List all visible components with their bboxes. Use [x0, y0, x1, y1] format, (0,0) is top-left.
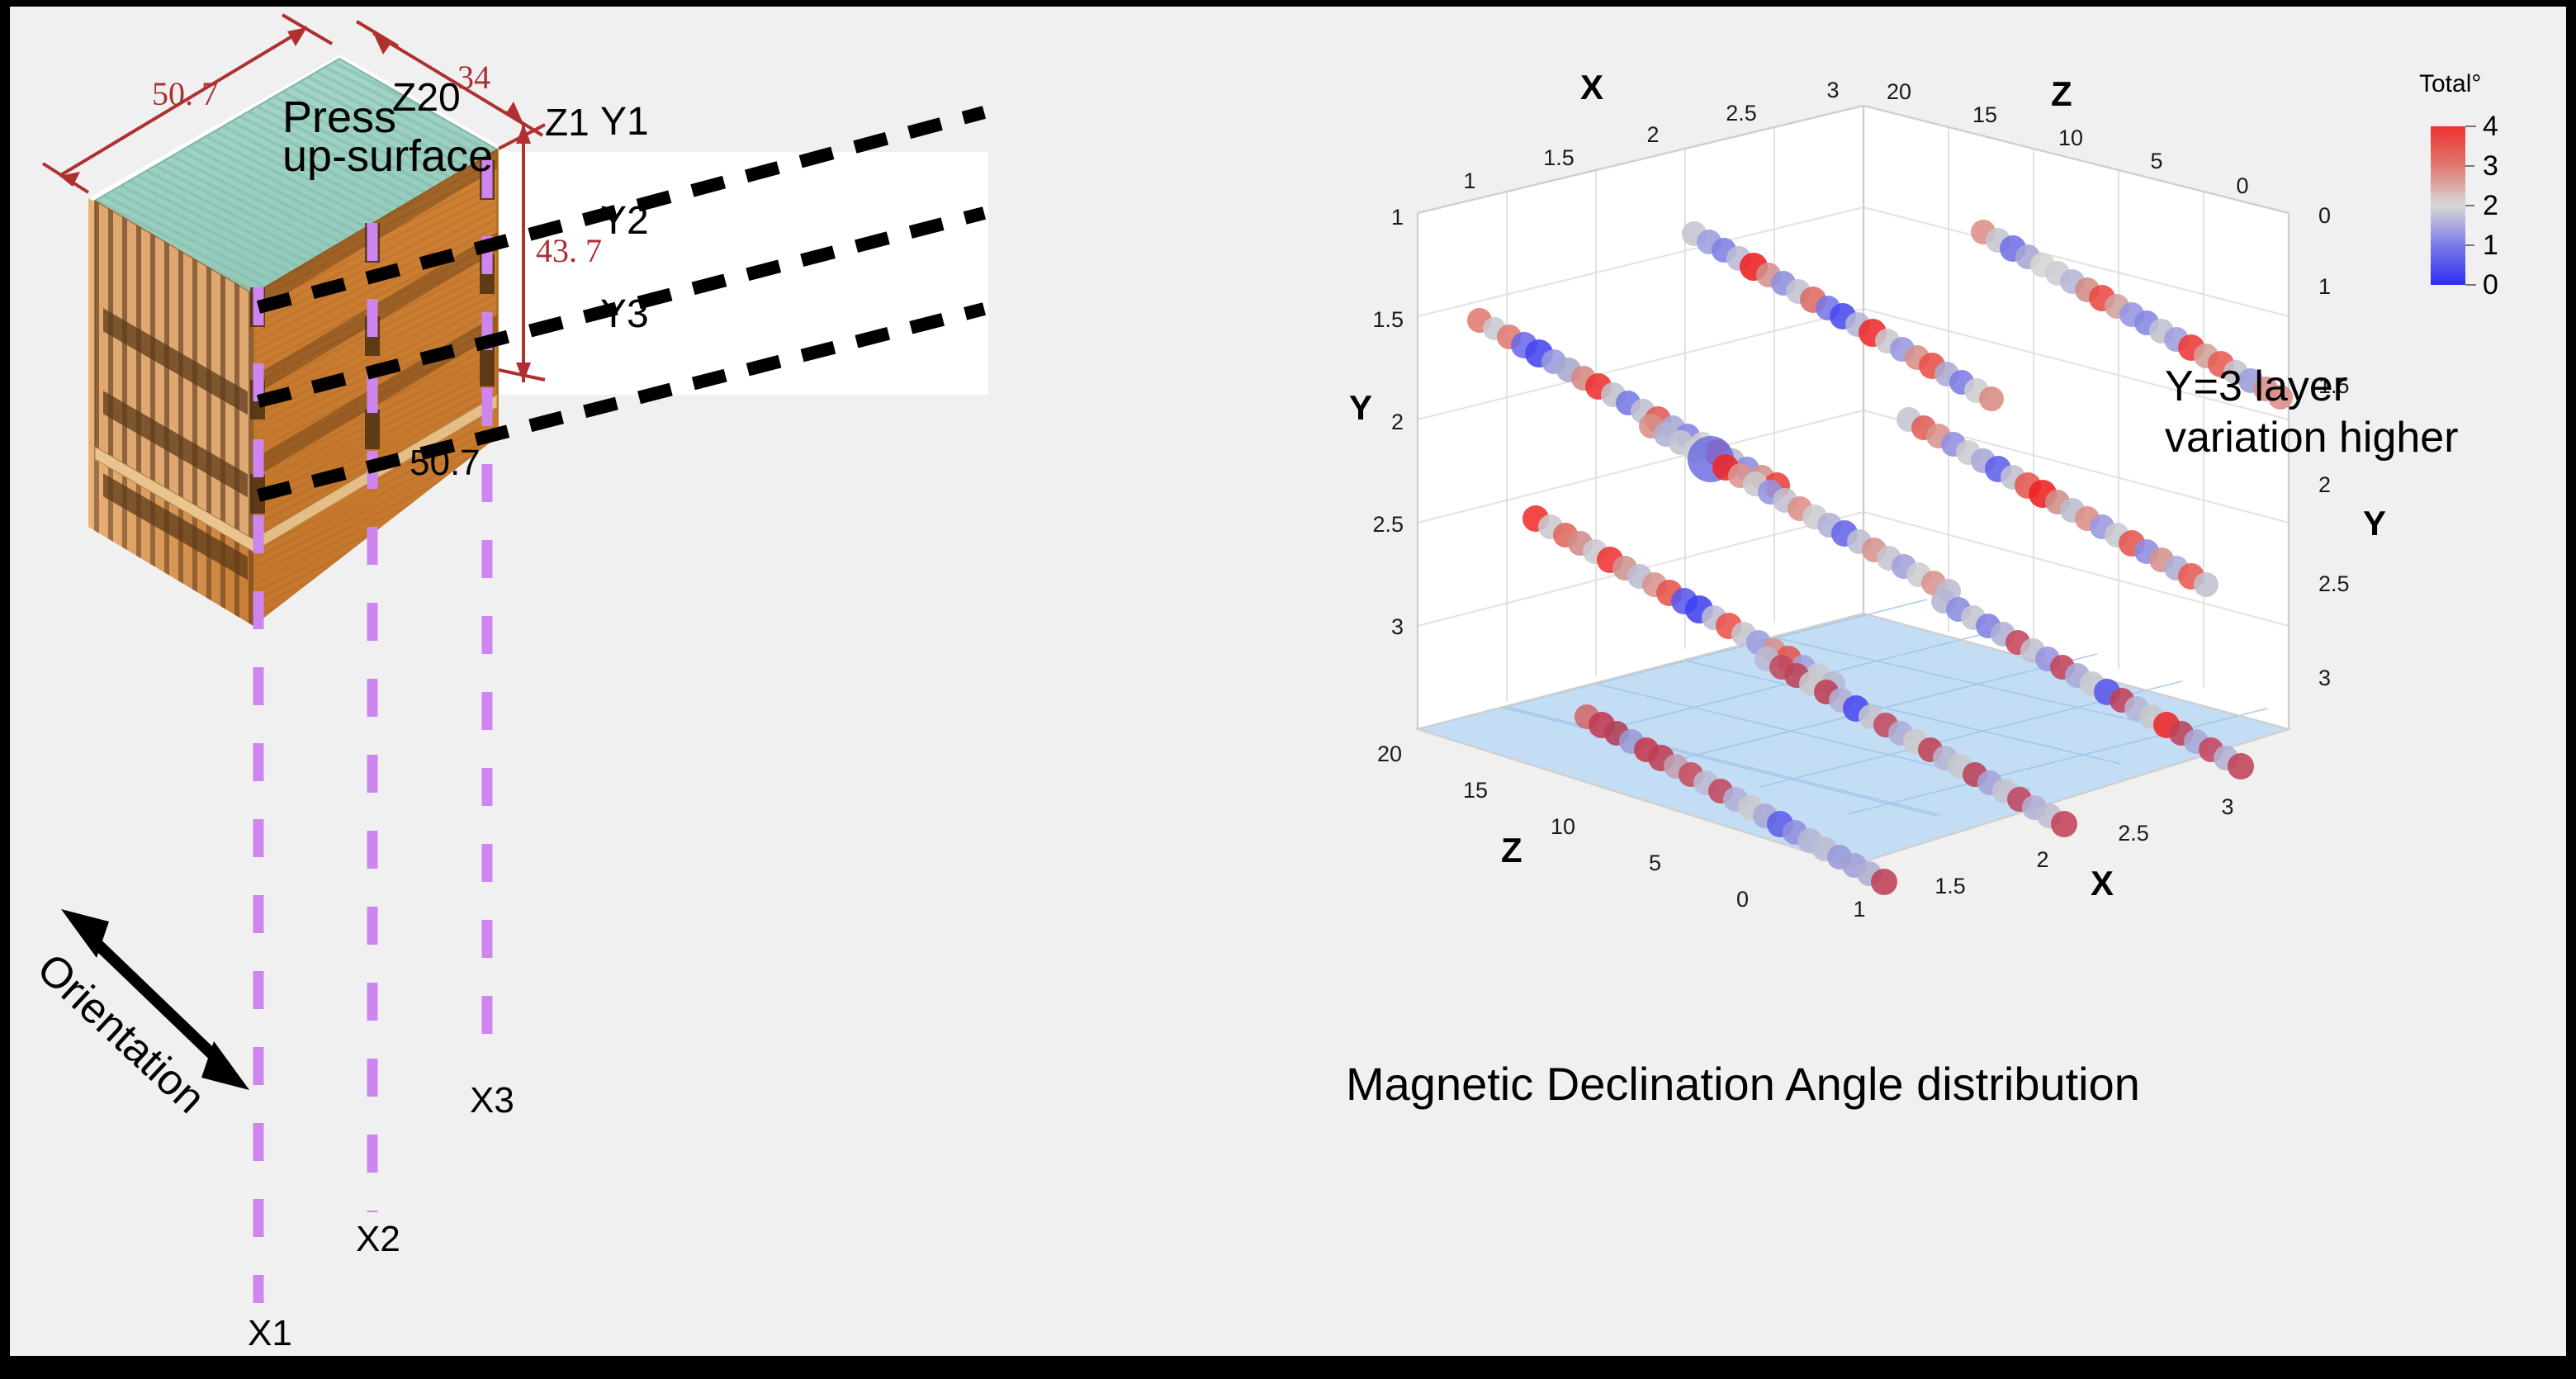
svg-text:2.5: 2.5: [2318, 571, 2350, 596]
cad-svg: [10, 7, 1298, 1356]
svg-text:3: 3: [2221, 794, 2233, 819]
annotation-line2: variation higher: [2165, 413, 2459, 462]
bottom-dimension-label: 50.7: [410, 443, 481, 484]
colorbar-tick-0: 0: [2483, 269, 2498, 301]
cad-diagram-panel: Press up-surface 50. 7 34 43. 7 50.7 Z20…: [10, 7, 1298, 1356]
press-surface-label-line2: up-surface: [282, 130, 493, 182]
svg-text:1.5: 1.5: [1372, 307, 1404, 332]
svg-text:2.5: 2.5: [1726, 101, 1757, 126]
y-ticks-left: 1 1.5 2 2.5 3: [1372, 205, 1404, 639]
y1-label: Y1: [600, 99, 649, 145]
svg-text:1: 1: [1391, 205, 1404, 230]
svg-text:3: 3: [1826, 78, 1839, 102]
x1-label: X1: [248, 1313, 292, 1354]
svg-text:15: 15: [1972, 102, 1997, 127]
z1-label: Z1: [545, 100, 590, 145]
svg-text:2: 2: [2036, 847, 2048, 872]
plot-caption: Magnetic Declination Angle distribution: [1346, 1057, 2140, 1111]
figure-canvas: Press up-surface 50. 7 34 43. 7 50.7 Z20…: [10, 7, 2566, 1356]
x2-label: X2: [356, 1219, 400, 1260]
svg-text:0: 0: [2318, 203, 2331, 228]
svg-text:1: 1: [2318, 274, 2331, 299]
x3-label: X3: [470, 1080, 514, 1121]
scatter3d-panel: 1 1.5 2 2.5 3 X 20 15 10 5 0 Z 1 1.5 2 2: [1331, 31, 2561, 1187]
scatter3d-svg: 1 1.5 2 2.5 3 X 20 15 10 5 0 Z 1 1.5 2 2: [1331, 31, 2561, 1187]
svg-text:20: 20: [1887, 79, 1911, 104]
colorbar-tick-3: 3: [2483, 150, 2498, 182]
y3-label: Y3: [600, 291, 649, 337]
svg-text:2: 2: [2318, 472, 2331, 497]
svg-text:0: 0: [1736, 887, 1749, 912]
colorbar-group: [2431, 126, 2476, 285]
z20-label: Z20: [392, 75, 461, 121]
x-axis-name-top: X: [1580, 68, 1603, 107]
z-axis-name-bottom: Z: [1501, 831, 1522, 870]
svg-text:0: 0: [2236, 173, 2248, 198]
height-dimension-label: 43. 7: [536, 231, 602, 270]
svg-text:1.5: 1.5: [1543, 145, 1574, 170]
colorbar-tick-1: 1: [2483, 230, 2498, 262]
svg-text:3: 3: [1391, 614, 1404, 639]
colorbar-tick-2: 2: [2483, 190, 2498, 222]
svg-text:10: 10: [2058, 126, 2083, 150]
y-axis-name-right: Y: [2363, 504, 2386, 543]
svg-text:2: 2: [1646, 122, 1659, 147]
annotation-line1: Y=3 layer: [2165, 362, 2347, 411]
width-dimension-label: 50. 7: [152, 74, 218, 113]
x-axis-name-bottom: X: [2091, 864, 2114, 903]
svg-text:3: 3: [2318, 666, 2331, 690]
svg-text:2.5: 2.5: [1372, 512, 1404, 537]
svg-text:20: 20: [1377, 742, 1402, 766]
colorbar-title: Total°: [2419, 70, 2481, 98]
svg-text:1: 1: [1853, 897, 1865, 922]
y-axis-name-left: Y: [1349, 388, 1372, 427]
svg-text:5: 5: [2150, 149, 2162, 173]
svg-text:10: 10: [1551, 814, 1575, 839]
colorbar-gradient: [2431, 126, 2465, 285]
svg-text:2: 2: [1391, 410, 1404, 434]
svg-text:1.5: 1.5: [1934, 874, 1966, 898]
z-axis-name-top: Z: [2051, 74, 2072, 113]
svg-text:1: 1: [1463, 168, 1475, 193]
figure-root: Press up-surface 50. 7 34 43. 7 50.7 Z20…: [0, 0, 2576, 1379]
svg-text:5: 5: [1649, 851, 1661, 875]
y2-label: Y2: [600, 198, 649, 244]
colorbar-tick-4: 4: [2483, 111, 2498, 143]
depth-dimension-label: 34: [457, 58, 490, 97]
svg-text:2.5: 2.5: [2118, 821, 2149, 846]
svg-text:15: 15: [1463, 778, 1488, 803]
